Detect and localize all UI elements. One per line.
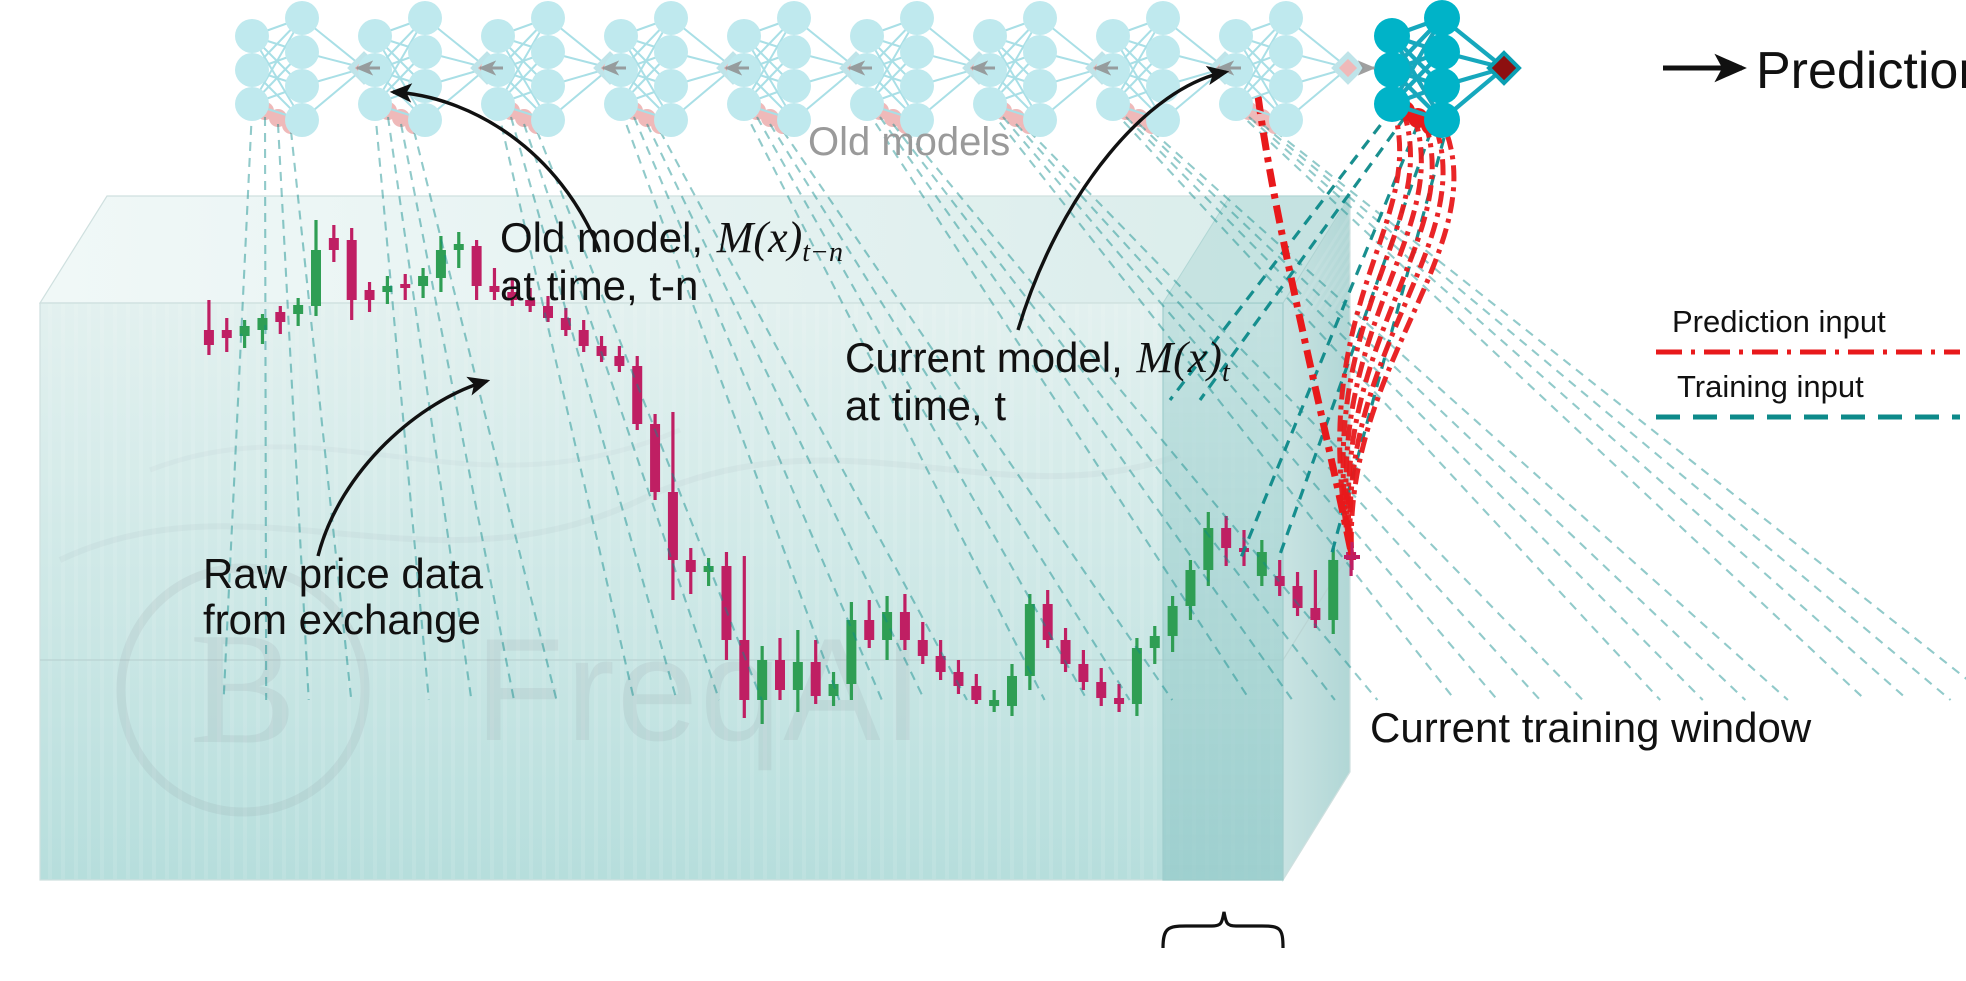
candle-body <box>757 660 767 700</box>
model-hidden-node <box>1424 0 1460 36</box>
old-model-0 <box>235 1 377 137</box>
current-model <box>1374 0 1519 138</box>
model-hidden-node <box>777 69 811 103</box>
model-hidden-node <box>1269 69 1303 103</box>
model-hidden-node <box>408 35 442 69</box>
old-model-label-line2: at time, t-n <box>500 262 698 309</box>
candle-body <box>846 620 856 684</box>
model-input-node <box>973 19 1007 53</box>
model-hidden-node <box>1146 1 1180 35</box>
legend-label-prediction-input: Prediction input <box>1672 304 1886 339</box>
candle-body <box>739 640 749 700</box>
model-input-node <box>1374 52 1410 88</box>
watermark-text: FreqAI <box>475 608 925 771</box>
model-input-node <box>1096 19 1130 53</box>
current-model-math-x: (x) <box>1173 333 1222 382</box>
candle-body <box>579 330 589 346</box>
model-input-node <box>1374 86 1410 122</box>
model-hidden-node <box>654 69 688 103</box>
raw-price-label-line1: Raw price data <box>203 550 484 597</box>
model-hidden-node <box>1146 103 1180 137</box>
prediction-label: Prediction <box>1756 42 1966 100</box>
model-input-node <box>1096 53 1130 87</box>
model-hidden-node <box>1424 68 1460 104</box>
model-hidden-node <box>1146 35 1180 69</box>
model-hidden-node <box>1023 1 1057 35</box>
candle-body <box>864 620 874 640</box>
model-input-node <box>1219 87 1253 121</box>
old-models-label: Old models <box>808 120 1010 164</box>
diagram-svg: B FreqAI Prediction Old models Old model… <box>0 0 1966 981</box>
candle-body <box>204 330 214 345</box>
model-input-node <box>850 19 884 53</box>
model-input-node <box>358 87 392 121</box>
model-input-node <box>727 53 761 87</box>
model-output-diamond <box>1335 55 1361 81</box>
legend-label-training-input: Training input <box>1677 369 1864 404</box>
model-input-node <box>1219 19 1253 53</box>
model-hidden-node <box>654 1 688 35</box>
model-hidden-node <box>531 69 565 103</box>
old-model-label-line1: Old model, M(x)t−n <box>500 213 843 268</box>
model-input-node <box>1219 53 1253 87</box>
candle-body <box>1150 636 1160 648</box>
model-hidden-node <box>777 35 811 69</box>
candle-body <box>811 662 821 696</box>
candle-body <box>311 250 321 306</box>
model-hidden-node <box>1023 103 1057 137</box>
model-input-node <box>481 53 515 87</box>
model-hidden-node <box>1023 69 1057 103</box>
model-input-node <box>235 87 269 121</box>
candle-body <box>454 244 464 250</box>
training-window-front <box>1163 303 1283 880</box>
model-hidden-node <box>1269 1 1303 35</box>
candle-body <box>686 560 696 572</box>
candle-body <box>1114 698 1124 704</box>
candle-body <box>1168 606 1178 636</box>
candle-body <box>275 312 285 322</box>
candle-body <box>436 250 446 278</box>
candle-body <box>400 284 410 288</box>
model-input-node <box>235 53 269 87</box>
candle-body <box>1185 570 1195 606</box>
model-hidden-node <box>1424 102 1460 138</box>
candle-body <box>793 662 803 690</box>
model-hidden-node <box>408 103 442 137</box>
candle-body <box>329 238 339 250</box>
model-hidden-node <box>777 103 811 137</box>
model-input-node <box>604 53 638 87</box>
model-hidden-node <box>408 1 442 35</box>
candle-body <box>365 290 375 300</box>
model-hidden-node <box>900 69 934 103</box>
candle-body <box>918 640 928 656</box>
model-input-node <box>604 87 638 121</box>
model-chain <box>235 0 1519 138</box>
candle-body <box>1310 608 1320 620</box>
model-hidden-node <box>900 1 934 35</box>
candle-body <box>1007 676 1017 706</box>
model-hidden-node <box>1269 103 1303 137</box>
model-input-node <box>850 53 884 87</box>
model-hidden-node <box>531 35 565 69</box>
model-input-node <box>1374 18 1410 54</box>
model-hidden-node <box>1023 35 1057 69</box>
model-input-node <box>973 53 1007 87</box>
candle-body <box>1328 560 1338 620</box>
candle-body <box>650 424 660 492</box>
candle-body <box>1025 604 1035 676</box>
candle-body <box>668 492 678 560</box>
model-hidden-node <box>900 35 934 69</box>
model-hidden-node <box>285 103 319 137</box>
model-input-node <box>358 53 392 87</box>
current-model-label-line1: Current model, M(x)t <box>845 333 1231 388</box>
candle-body <box>1078 664 1088 682</box>
candle-body <box>222 330 232 338</box>
candle-body <box>775 660 785 690</box>
current-model-math-sub: t <box>1222 357 1231 388</box>
training-window-label: Current training window <box>1370 704 1812 751</box>
model-input-node <box>973 87 1007 121</box>
raw-price-annotation: Raw price data from exchange <box>203 550 484 643</box>
model-input-node <box>727 19 761 53</box>
model-input-node <box>1096 87 1130 121</box>
model-hidden-node <box>531 1 565 35</box>
candle-body <box>614 356 624 366</box>
candle-body <box>418 276 428 286</box>
current-model-text: Current model, <box>845 334 1134 381</box>
candle-body <box>1096 682 1106 698</box>
old-model-math-x: (x) <box>753 213 802 262</box>
model-hidden-node <box>1146 69 1180 103</box>
model-hidden-node <box>285 1 319 35</box>
model-hidden-node <box>1424 34 1460 70</box>
model-input-node <box>604 19 638 53</box>
old-model-math-sub: t−n <box>802 237 843 268</box>
raw-price-label-line2: from exchange <box>203 596 481 643</box>
model-hidden-node <box>285 35 319 69</box>
candle-body <box>293 305 303 314</box>
candle-body <box>1132 648 1142 704</box>
model-input-node <box>481 87 515 121</box>
current-model-label-line2: at time, t <box>845 382 1006 429</box>
legend: Prediction input Training input <box>1656 304 1960 417</box>
candle-body <box>971 686 981 700</box>
candle-body <box>900 612 910 640</box>
model-hidden-node <box>777 1 811 35</box>
training-window-brace <box>1163 912 1283 948</box>
old-model-math-m: M <box>716 213 756 262</box>
figure-canvas: B FreqAI Prediction Old models Old model… <box>0 0 1966 981</box>
old-model-text: Old model, <box>500 214 715 261</box>
model-hidden-node <box>285 69 319 103</box>
model-hidden-node <box>531 103 565 137</box>
model-input-node <box>850 87 884 121</box>
candle-body <box>721 566 731 640</box>
model-input-node <box>481 19 515 53</box>
model-input-node <box>358 19 392 53</box>
model-input-node <box>235 19 269 53</box>
candle-body <box>472 246 482 286</box>
model-hidden-node <box>1269 35 1303 69</box>
model-hidden-node <box>654 35 688 69</box>
candle-body <box>1221 528 1231 548</box>
candle-body <box>347 240 357 300</box>
candle-body <box>989 700 999 706</box>
candle-body <box>489 286 499 292</box>
current-model-math-m: M <box>1135 333 1175 382</box>
model-input-node <box>727 87 761 121</box>
model-hidden-node <box>654 103 688 137</box>
